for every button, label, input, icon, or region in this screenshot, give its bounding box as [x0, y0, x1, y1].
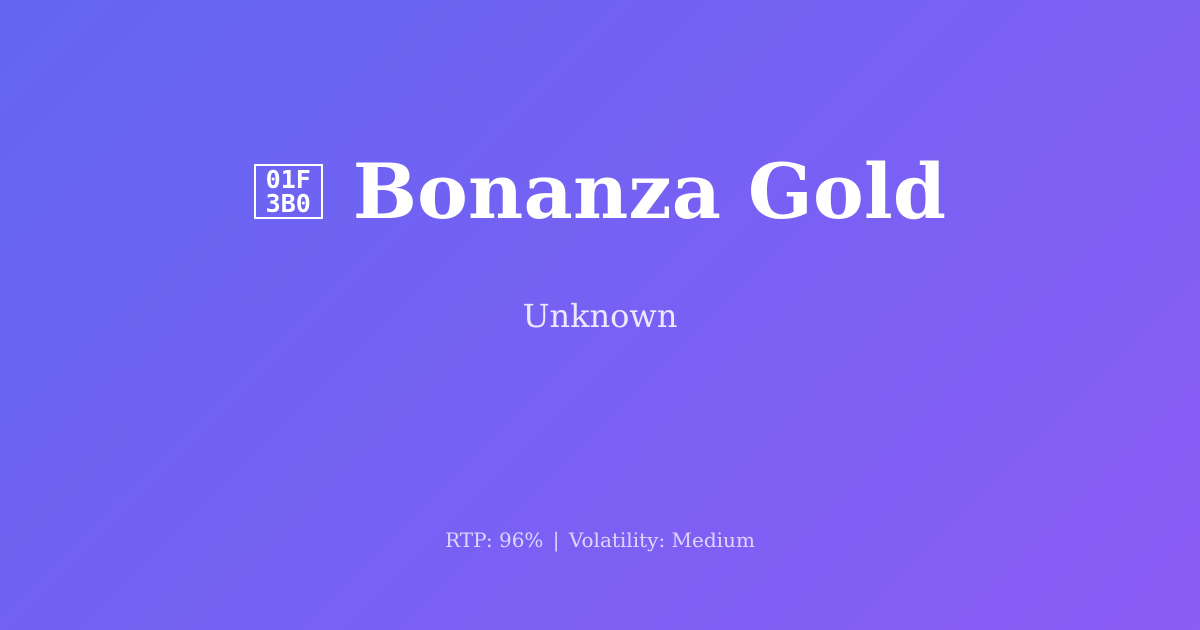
page-subtitle: Unknown [523, 297, 678, 335]
slot-machine-icon: 01F 3B0 [254, 164, 323, 219]
rtp-label: RTP: [445, 528, 493, 552]
slot-machine-icon-codepoint-bottom: 3B0 [266, 192, 311, 216]
page-title: Bonanza Gold [353, 152, 947, 231]
title-row: 01F 3B0 Bonanza Gold [0, 152, 1200, 231]
og-card: 01F 3B0 Bonanza Gold Unknown RTP: 96% | … [0, 0, 1200, 630]
meta-separator: | [550, 528, 563, 552]
hero-block: 01F 3B0 Bonanza Gold Unknown [0, 0, 1200, 470]
volatility-value: Medium [672, 528, 755, 552]
volatility-label: Volatility: [569, 528, 665, 552]
rtp-value: 96% [499, 528, 543, 552]
game-meta-line: RTP: 96% | Volatility: Medium [0, 528, 1200, 552]
